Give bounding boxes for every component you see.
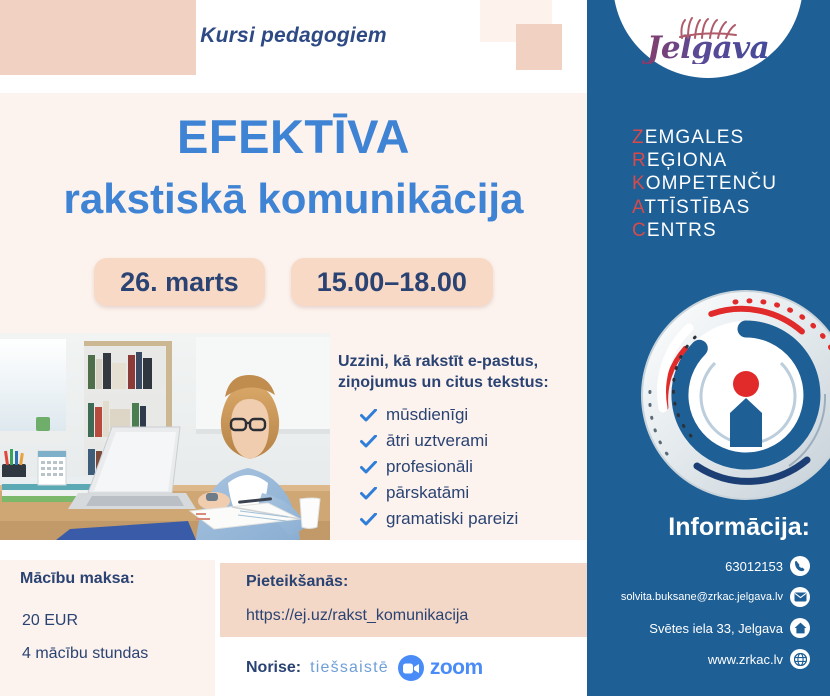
envelope-icon — [790, 587, 810, 607]
contact-address-value: Svētes iela 33, Jelgava — [649, 621, 783, 636]
acronym-line: KOMPETENČU — [632, 172, 777, 195]
fee-amount: 20 EUR — [22, 612, 78, 630]
acronym-line: REĢIONA — [632, 149, 777, 172]
zoom-wordmark: zoom — [430, 656, 483, 680]
contact-title: Informācija: — [668, 513, 810, 542]
benefits-list: mūsdienīgi ātri uztverami profesionāli p… — [360, 405, 590, 535]
contact-row-phone: 63012153 — [595, 556, 810, 576]
list-item: gramatiski pareizi — [360, 509, 590, 529]
title-line-1: EFEKTĪVA — [0, 113, 587, 160]
poster-root: Kursi pedagogiem EFEKTĪVA rakstiskā komu… — [0, 0, 830, 696]
acronym-line: ATTĪSTĪBAS — [632, 196, 777, 219]
contact-list: 63012153 solvita.buksane@zrkac.jelgava.l… — [595, 556, 810, 680]
format-value: tiešsaistē — [310, 659, 389, 677]
list-item: profesionāli — [360, 457, 590, 477]
fee-heading: Mācību maksa: — [20, 570, 135, 588]
acronym-line: CENTRS — [632, 219, 777, 242]
acronym-rest: ENTRS — [647, 220, 717, 241]
jelgava-wordmark: Jelgava — [613, 33, 803, 64]
list-item: pārskatāmi — [360, 483, 590, 503]
registration-heading: Pieteikšanās: — [246, 573, 348, 591]
contact-email-value: solvita.buksane@zrkac.jelgava.lv — [621, 591, 783, 603]
panel-divider — [0, 540, 587, 560]
benefits-heading-line-1: Uzzini, kā rakstīt e-pastus, — [338, 352, 582, 373]
registration-url[interactable]: https://ej.uz/rakst_komunikacija — [246, 607, 468, 625]
contact-row-email: solvita.buksane@zrkac.jelgava.lv — [595, 587, 810, 607]
jelgava-logo-card: Jelgava — [613, 0, 803, 78]
home-icon — [790, 618, 810, 638]
acronym-block: ZEMGALES REĢIONA KOMPETENČU ATTĪSTĪBAS C… — [632, 126, 777, 242]
acronym-initial: R — [632, 150, 647, 171]
check-icon — [360, 461, 377, 474]
contact-row-website: www.zrkac.lv — [595, 649, 810, 669]
title-line-2: rakstiskā komunikācija — [0, 178, 587, 220]
fee-duration: 4 mācību stundas — [22, 645, 148, 663]
benefits-heading-line-2: ziņojumus un citus tekstus: — [338, 373, 582, 394]
acronym-rest: OMPETENČU — [646, 173, 777, 194]
list-item-label: mūsdienīgi — [386, 405, 468, 425]
check-icon — [360, 409, 377, 422]
acronym-initial: Z — [632, 127, 645, 148]
acronym-rest: EĢIONA — [647, 150, 728, 171]
check-icon — [360, 513, 377, 526]
list-item-label: profesionāli — [386, 457, 473, 477]
benefits-heading: Uzzini, kā rakstīt e-pastus, ziņojumus u… — [338, 352, 582, 394]
list-item-label: pārskatāmi — [386, 483, 469, 503]
acronym-initial: K — [632, 173, 646, 194]
acronym-line: ZEMGALES — [632, 126, 777, 149]
jelgava-logo: Jelgava — [613, 13, 803, 64]
check-icon — [360, 487, 377, 500]
contact-website-value: www.zrkac.lv — [708, 652, 783, 667]
acronym-rest: TTĪSTĪBAS — [644, 197, 750, 218]
contact-phone-value: 63012153 — [725, 559, 783, 574]
zrkac-emblem-icon — [639, 288, 830, 503]
date-pill: 26. marts — [94, 258, 265, 306]
format-row: Norise: tiešsaistē zoom — [246, 655, 483, 681]
zoom-logo: zoom — [398, 655, 483, 681]
phone-icon — [790, 556, 810, 576]
globe-icon — [790, 649, 810, 669]
acronym-rest: EMGALES — [645, 127, 745, 148]
acronym-initial: C — [632, 220, 647, 241]
format-label: Norise: — [246, 659, 301, 677]
list-item: mūsdienīgi — [360, 405, 590, 425]
check-icon — [360, 435, 377, 448]
schedule-pills: 26. marts 15.00–18.00 — [0, 258, 587, 306]
zoom-camera-icon — [398, 655, 424, 681]
sidebar: Jelgava ZEMGALES REĢIONA KOMPETENČU ATTĪ… — [587, 0, 830, 696]
acronym-initial: A — [632, 197, 644, 218]
time-pill: 15.00–18.00 — [291, 258, 493, 306]
list-item: ātri uztverami — [360, 431, 590, 451]
list-item-label: gramatiski pareizi — [386, 509, 518, 529]
kicker-text: Kursi pedagogiem — [0, 24, 587, 48]
list-item-label: ātri uztverami — [386, 431, 488, 451]
contact-row-address: Svētes iela 33, Jelgava — [595, 618, 810, 638]
course-photo — [0, 333, 330, 540]
